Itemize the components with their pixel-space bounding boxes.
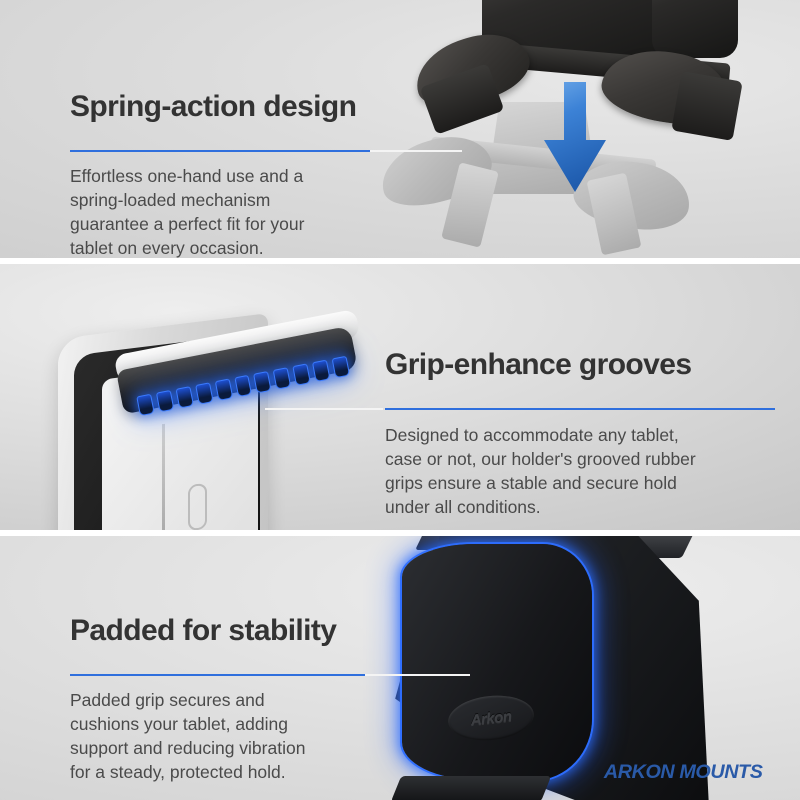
feature-panel-padded-for-stability: Arkon Padded for stability Padded grip s…	[0, 536, 800, 800]
accent-rule-white-extension	[370, 150, 462, 152]
feature-panel-spring-action: Spring-action design Effortless one-hand…	[0, 0, 800, 258]
panel-1-copy: Spring-action design Effortless one-hand…	[70, 66, 470, 258]
groove	[293, 363, 311, 385]
panel-2-copy: Grip-enhance grooves Designed to accommo…	[385, 324, 775, 530]
groove	[253, 371, 271, 393]
arkon-mounts-logo: ARKON MOUNTS	[603, 762, 762, 784]
accent-rule-blue	[70, 674, 365, 676]
tablet-in-grooved-grip-illustration	[40, 284, 400, 530]
panel-1-body: Effortless one-hand use and a spring-loa…	[70, 165, 370, 258]
panel-3-body: Padded grip secures and cushions your ta…	[70, 689, 370, 784]
groove	[136, 394, 154, 416]
panel-3-copy: Padded for stability Padded grip secures…	[70, 590, 470, 800]
panel-1-headline: Spring-action design	[70, 91, 470, 123]
panel-2-accent-rule	[385, 405, 775, 413]
blue-down-arrow-icon	[542, 82, 608, 194]
groove	[214, 379, 232, 401]
groove	[312, 360, 330, 382]
clamp-strut-right	[671, 71, 742, 141]
accent-rule-blue	[70, 150, 370, 152]
badge-label: Arkon	[470, 707, 512, 728]
accent-rule-white-extension	[365, 674, 470, 676]
accent-rule-blue	[385, 408, 775, 410]
product-feature-infographic: Spring-action design Effortless one-hand…	[0, 0, 800, 800]
panel-2-headline: Grip-enhance grooves	[385, 349, 775, 381]
groove	[234, 375, 252, 397]
panel-1-accent-rule	[70, 147, 462, 155]
clamp-head-side	[652, 0, 738, 58]
groove	[175, 386, 193, 408]
groove	[273, 367, 291, 389]
tablet-seam	[162, 424, 165, 530]
tablet-port	[188, 483, 207, 530]
panel-3-accent-rule	[70, 671, 470, 679]
groove	[195, 382, 213, 404]
panel-2-body: Designed to accommodate any tablet, case…	[385, 424, 765, 519]
groove	[156, 390, 174, 412]
panel-3-headline: Padded for stability	[70, 615, 470, 647]
accent-rule-white-extension	[265, 408, 383, 410]
feature-panel-grip-enhance-grooves: Grip-enhance grooves Designed to accommo…	[0, 264, 800, 530]
